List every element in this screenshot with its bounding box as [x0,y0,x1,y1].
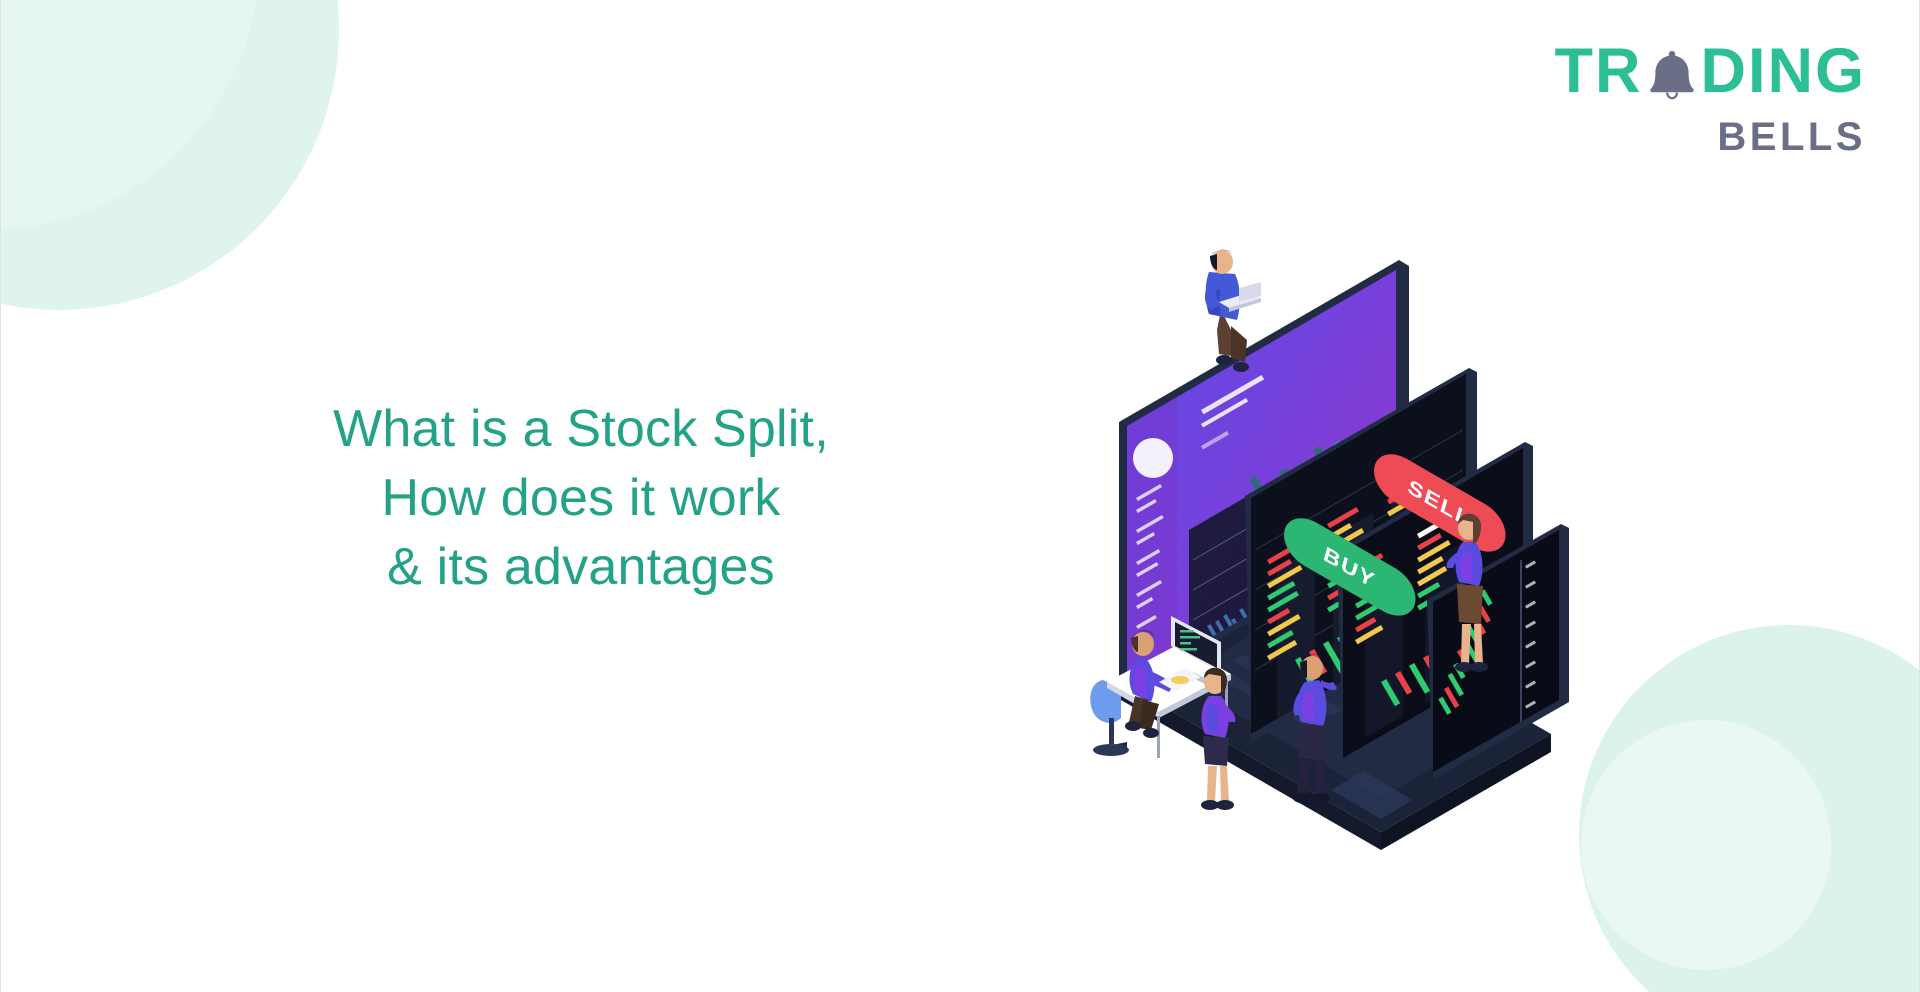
banner-root: TR DING BELLS What is a Stock Split, How… [0,0,1920,992]
page-title: What is a Stock Split, How does it work … [181,395,981,602]
logo-subtitle: BELLS [1555,117,1866,157]
isometric-stock-trading-illustration: SELL BUY [1081,230,1601,790]
bell-icon [1644,40,1700,103]
mint-circle-bottom-right-small [1581,720,1831,970]
brand-logo[interactable]: TR DING BELLS [1555,40,1866,157]
headline-line-2: How does it work [181,464,981,533]
headline-line-3: & its advantages [181,533,981,602]
logo-wordmark: TR DING [1555,40,1866,103]
avatar [1133,438,1173,478]
logo-word-after-bell: DING [1701,40,1867,103]
logo-word-before-bell: TR [1555,40,1643,103]
headline-line-1: What is a Stock Split, [181,395,981,464]
